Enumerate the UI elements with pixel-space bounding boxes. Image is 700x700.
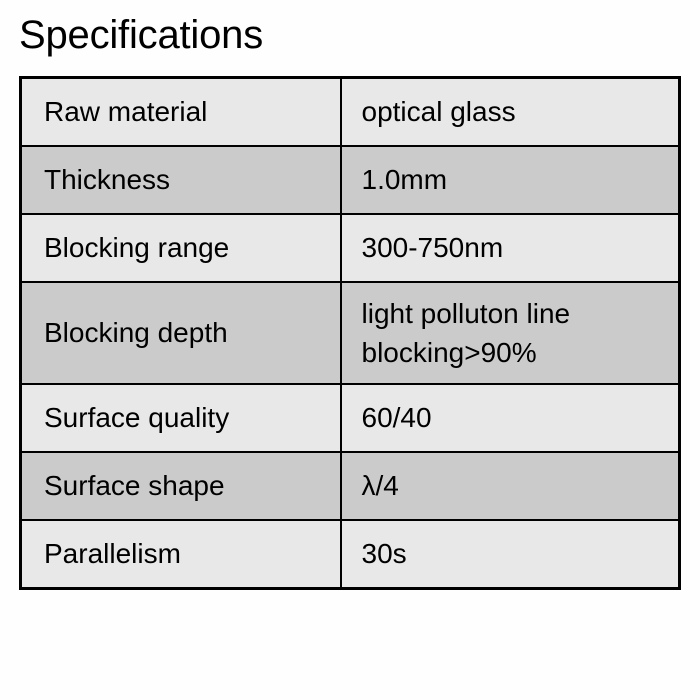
spec-value-text: λ/4 <box>342 453 679 519</box>
spec-value-cell: optical glass <box>341 78 680 147</box>
spec-label-text: Parallelism <box>22 521 340 587</box>
table-row: Thickness 1.0mm <box>21 146 680 214</box>
spec-value-cell: 300-750nm <box>341 214 680 282</box>
spec-label-cell: Blocking depth <box>21 282 341 384</box>
table-row: Blocking depth light polluton line block… <box>21 282 680 384</box>
table-row: Parallelism 30s <box>21 520 680 589</box>
table-row: Raw material optical glass <box>21 78 680 147</box>
spec-label-text: Surface quality <box>22 385 340 451</box>
spec-value-line-2: blocking>90% <box>362 333 669 372</box>
table-row: Surface shape λ/4 <box>21 452 680 520</box>
spec-label-cell: Blocking range <box>21 214 341 282</box>
spec-value-text: 60/40 <box>342 385 679 451</box>
spec-value-text: light polluton line blocking>90% <box>342 283 679 383</box>
spec-value-cell: 30s <box>341 520 680 589</box>
spec-value-cell: λ/4 <box>341 452 680 520</box>
spec-label-cell: Surface shape <box>21 452 341 520</box>
table-row: Blocking range 300-750nm <box>21 214 680 282</box>
spec-label-text: Thickness <box>22 147 340 213</box>
spec-label-cell: Raw material <box>21 78 341 147</box>
specifications-table: Raw material optical glass Thickness 1.0… <box>19 76 681 590</box>
spec-label-text: Surface shape <box>22 453 340 519</box>
spec-label-cell: Thickness <box>21 146 341 214</box>
spec-value-cell: light polluton line blocking>90% <box>341 282 680 384</box>
spec-label-text: Blocking depth <box>22 300 340 366</box>
spec-value-text: 1.0mm <box>342 147 679 213</box>
spec-value-text: 300-750nm <box>342 215 679 281</box>
specifications-table-body: Raw material optical glass Thickness 1.0… <box>21 78 680 589</box>
spec-value-cell: 60/40 <box>341 384 680 452</box>
spec-value-line-1: light polluton line <box>362 294 669 333</box>
spec-value-text: optical glass <box>342 79 679 145</box>
specifications-page: Specifications Raw material optical glas… <box>0 0 700 700</box>
spec-label-text: Blocking range <box>22 215 340 281</box>
spec-value-cell: 1.0mm <box>341 146 680 214</box>
spec-label-cell: Parallelism <box>21 520 341 589</box>
spec-label-cell: Surface quality <box>21 384 341 452</box>
spec-value-text: 30s <box>342 521 679 587</box>
page-title: Specifications <box>19 8 263 62</box>
table-row: Surface quality 60/40 <box>21 384 680 452</box>
spec-label-text: Raw material <box>22 79 340 145</box>
